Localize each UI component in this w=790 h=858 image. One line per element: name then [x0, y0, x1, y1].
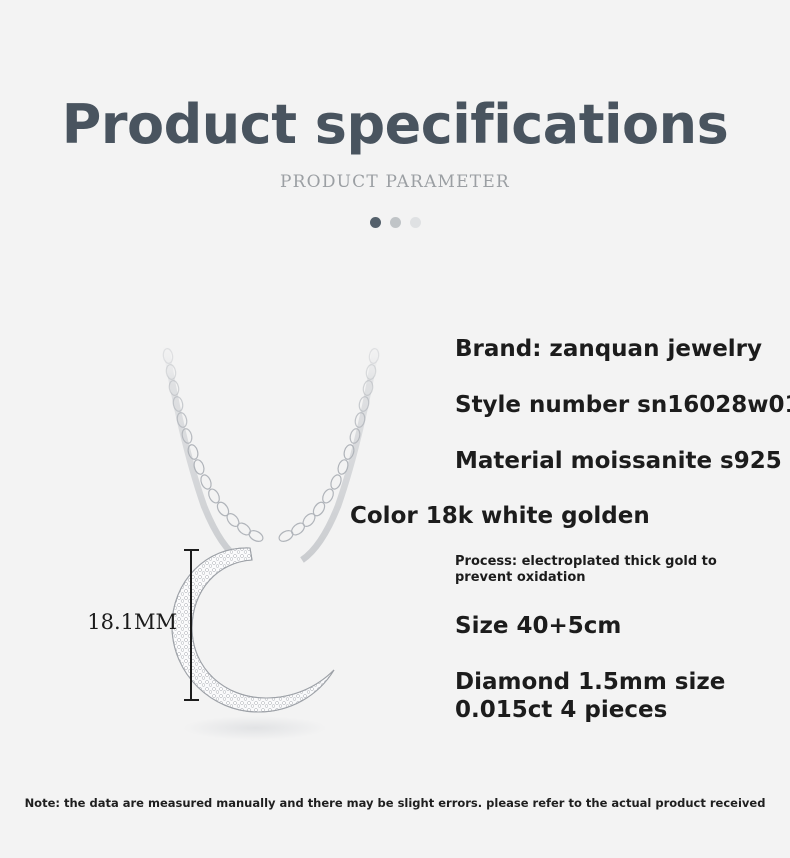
carousel-dots: [0, 217, 790, 228]
spec-material: Material moissanite s925 silver: [455, 448, 790, 474]
spec-style-number: Style number sn16028w01: [455, 392, 790, 418]
product-specification-page: Product specifications PRODUCT PARAMETER: [0, 0, 790, 858]
spec-size: Size 40+5cm: [455, 613, 621, 639]
measurement-label: 18.1MM: [0, 610, 177, 634]
dot-inactive-2-indicator[interactable]: [410, 217, 421, 228]
measurement-line: [190, 550, 192, 700]
spec-process: Process: electroplated thick gold to pre…: [455, 554, 730, 587]
footer-note: Note: the data are measured manually and…: [0, 796, 790, 810]
spec-brand: Brand: zanquan jewelry: [455, 336, 762, 362]
spec-diamond: Diamond 1.5mm size 0.015ct 4 pieces: [455, 668, 755, 724]
page-subtitle: PRODUCT PARAMETER: [0, 172, 790, 192]
dot-active-indicator[interactable]: [370, 217, 381, 228]
spec-color: Color 18k white golden: [350, 503, 650, 529]
measurement-cap-top: [184, 549, 199, 551]
measurement-annotation: 18.1MM: [85, 540, 205, 715]
measurement-cap-bottom: [184, 699, 199, 701]
chain-left: [162, 346, 264, 560]
dot-inactive-1-indicator[interactable]: [390, 217, 401, 228]
pendant-reflection: [183, 716, 327, 740]
page-title: Product specifications: [0, 97, 790, 154]
